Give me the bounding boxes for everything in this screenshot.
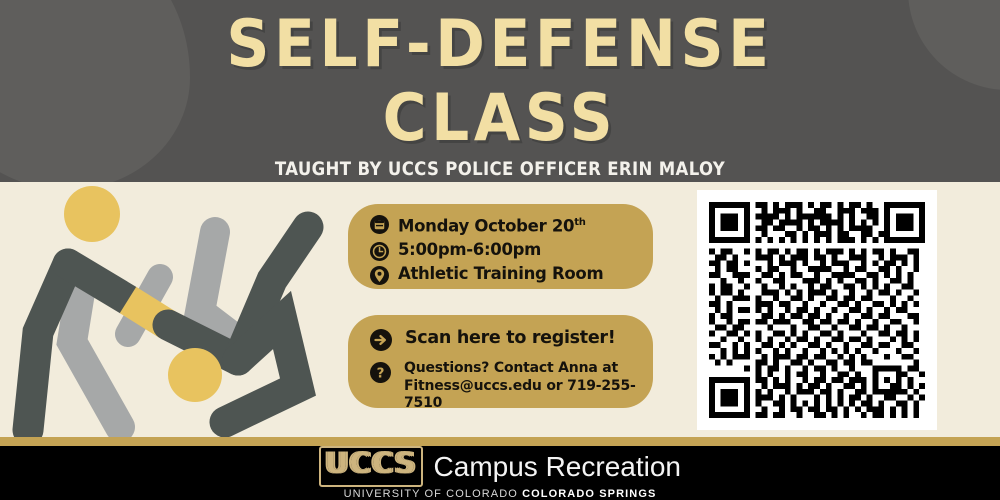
page-subtitle: TAUGHT BY UCCS POLICE OFFICER ERIN MALOY: [65, 158, 935, 180]
location-pin-icon: [370, 266, 389, 285]
calendar-icon: [370, 215, 389, 234]
uccs-logo-text: UCCS: [325, 446, 417, 480]
flyer-body: Monday October 20th 5:00pm-6:00pm: [0, 182, 1000, 437]
page-title-line-1: SELF-DEFENSE: [40, 0, 960, 82]
clock-icon: [370, 242, 389, 261]
title-block: SELF-DEFENSE CLASS TAUGHT BY UCCS POLICE…: [0, 0, 1000, 180]
questions-row: ? Questions? Contact Anna at Fitness@ucc…: [370, 360, 653, 413]
scan-label: Scan here to register!: [405, 328, 615, 349]
event-details-panel: Monday October 20th 5:00pm-6:00pm: [348, 204, 653, 289]
self-defense-illustration: [10, 182, 340, 437]
department-name: Campus Recreation: [434, 451, 681, 483]
arrow-right-circle-icon: [370, 329, 392, 351]
figure-head-gold-bottom: [168, 348, 222, 402]
questions-text: Questions? Contact Anna at Fitness@uccs.…: [404, 360, 653, 413]
event-row-date: Monday October 20th: [370, 213, 653, 237]
question-mark-circle-icon: ?: [370, 362, 391, 383]
university-name-bold: COLORADO SPRINGS: [522, 488, 656, 500]
registration-cta-panel: Scan here to register! ? Questions? Cont…: [348, 315, 653, 408]
flyer-header: SELF-DEFENSE CLASS TAUGHT BY UCCS POLICE…: [0, 0, 1000, 182]
event-location-text: Athletic Training Room: [398, 264, 603, 284]
university-name-normal: UNIVERSITY OF COLORADO: [344, 488, 523, 500]
svg-text:?: ?: [377, 365, 385, 381]
flyer-footer: UCCS Campus Recreation UNIVERSITY OF COL…: [0, 446, 1000, 500]
event-date-text: Monday October 20th: [398, 213, 586, 237]
figure-head-gold-top: [64, 186, 120, 242]
gold-divider-bar: [0, 437, 1000, 446]
registration-qr-code[interactable]: [697, 190, 937, 430]
university-line: UNIVERSITY OF COLORADO COLORADO SPRINGS: [344, 488, 657, 500]
event-time-text: 5:00pm-6:00pm: [398, 240, 541, 260]
uccs-brand-lockup: UCCS Campus Recreation: [319, 446, 681, 487]
event-row-time: 5:00pm-6:00pm: [370, 240, 653, 261]
questions-line-2: Fitness@uccs.edu or 719-255-7510: [404, 378, 636, 412]
page-title-line-2: CLASS: [40, 82, 960, 156]
questions-line-1: Questions? Contact Anna at: [404, 360, 618, 376]
scan-row: Scan here to register!: [370, 328, 653, 351]
uccs-logo: UCCS: [319, 446, 423, 487]
event-row-location: Athletic Training Room: [370, 264, 653, 285]
